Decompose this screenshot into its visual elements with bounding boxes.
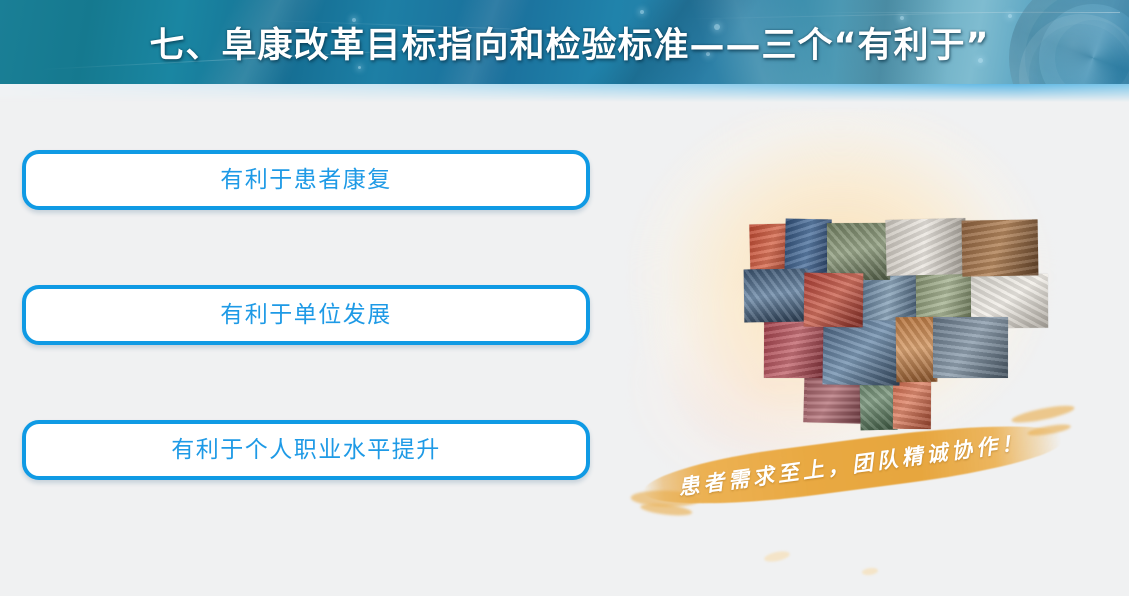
collage-photo <box>885 218 966 276</box>
benefit-pill-3[interactable]: 有利于个人职业水平提升 <box>22 420 590 480</box>
benefit-pill-2[interactable]: 有利于单位发展 <box>22 285 590 345</box>
slide-root: 七、阜康改革目标指向和检验标准——三个“有利于” 有利于患者康复 有利于单位发展… <box>0 0 1129 596</box>
collage-photo <box>827 223 890 280</box>
collage-photo <box>744 269 809 323</box>
page-title: 七、阜康改革目标指向和检验标准——三个“有利于” <box>0 0 1129 84</box>
collage-photo <box>896 317 938 382</box>
collage-photo <box>933 317 1008 378</box>
benefits-list: 有利于患者康复 有利于单位发展 有利于个人职业水平提升 <box>22 150 590 480</box>
slide-header: 七、阜康改革目标指向和检验标准——三个“有利于” <box>0 0 1129 84</box>
benefit-pill-3-label: 有利于个人职业水平提升 <box>171 439 441 462</box>
collage-photo <box>804 273 864 328</box>
benefit-pill-2-label: 有利于单位发展 <box>220 304 392 327</box>
collage-photo <box>822 319 900 385</box>
heart-photo-collage: 患者需求至上，团队精诚协作！ <box>618 100 1129 596</box>
benefit-pill-1[interactable]: 有利于患者康复 <box>22 150 590 210</box>
benefit-pill-1-label: 有利于患者康复 <box>220 169 392 192</box>
collage-photo <box>962 219 1039 276</box>
collage-photo <box>764 318 827 378</box>
